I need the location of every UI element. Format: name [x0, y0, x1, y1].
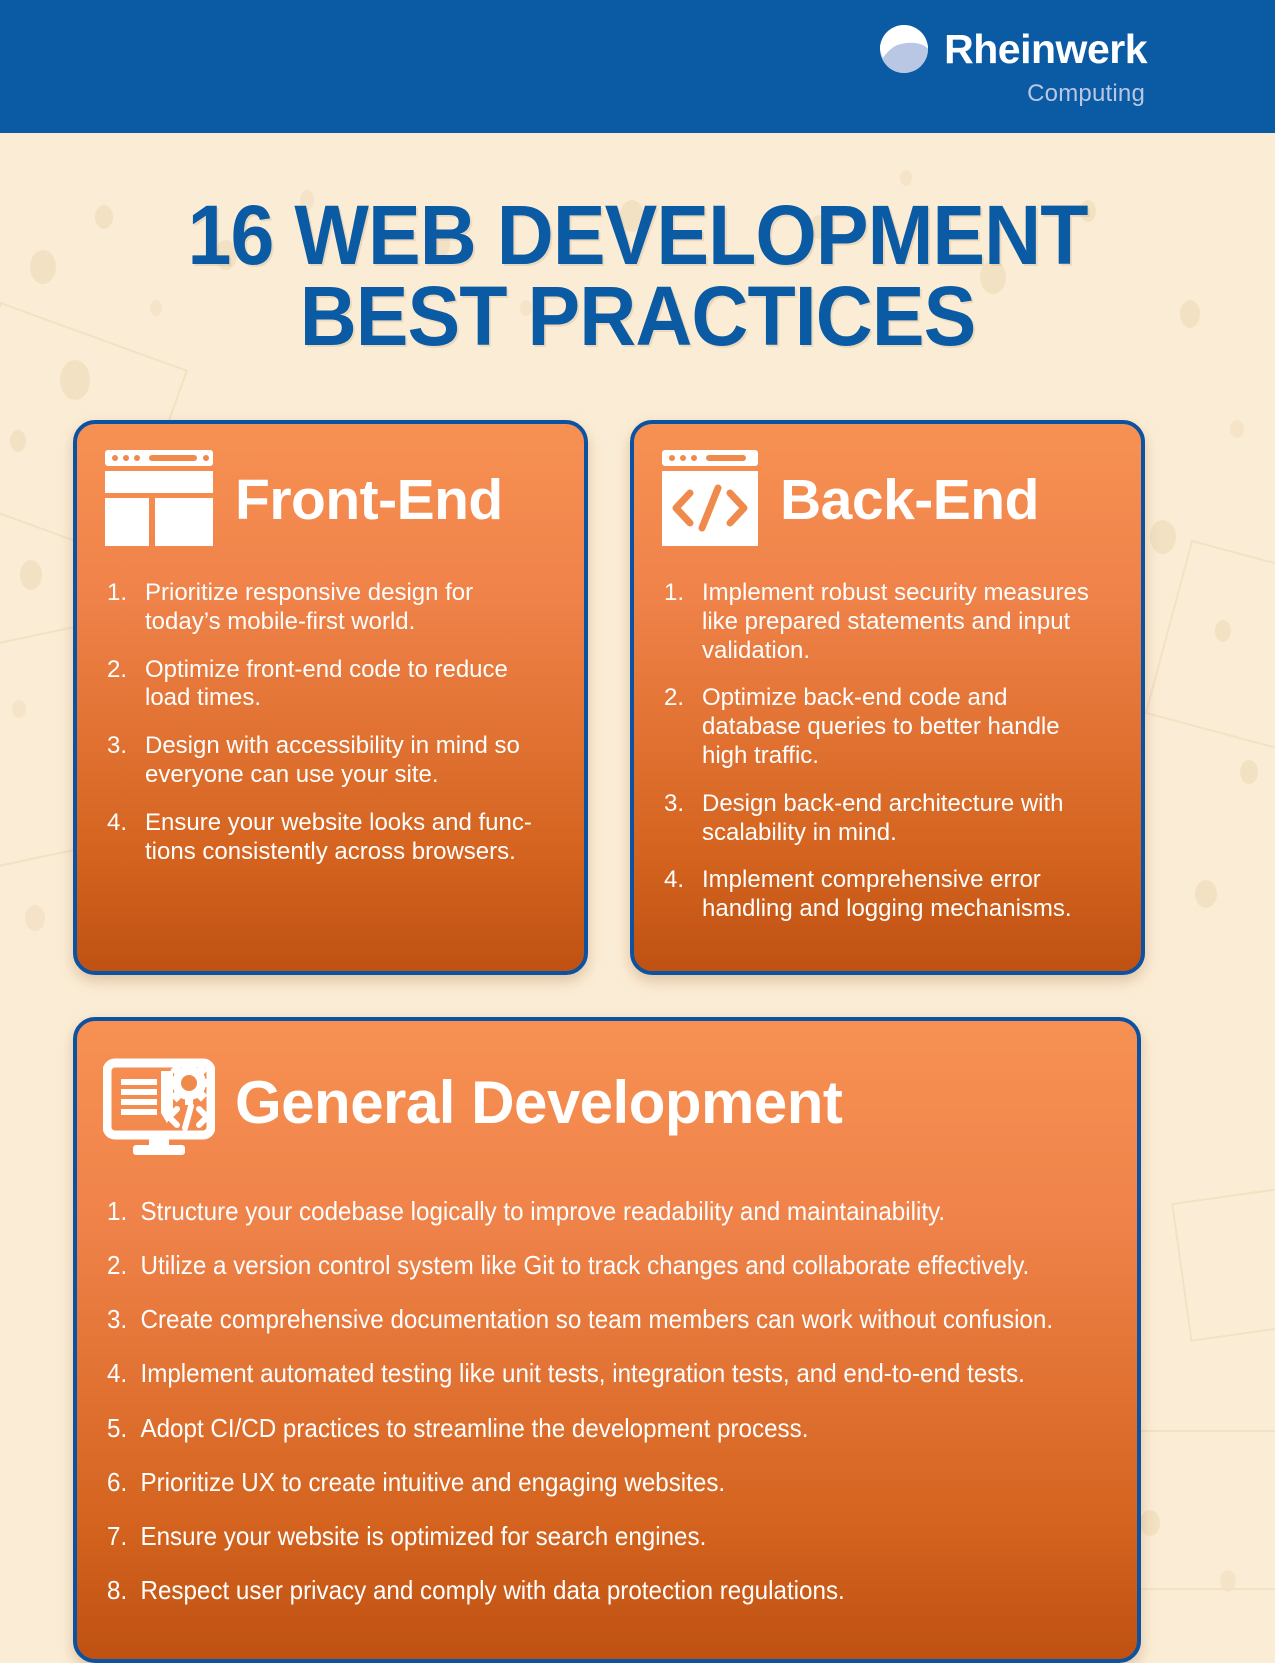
list-item: Utilize a version control system like Gi… [107, 1250, 1033, 1281]
page-header: Rheinwerk Computing [0, 0, 1275, 133]
list-item: Respect user privacy and comply with dat… [107, 1575, 1033, 1606]
card-general-development-title: General Development [235, 1073, 842, 1133]
list-item: Design back-end architecture with scalab… [662, 790, 1111, 848]
card-general-development-list: Structure your codebase logically to imp… [77, 1162, 1137, 1660]
card-back-end-list: Implement robust security measures like … [634, 553, 1141, 971]
list-item: Design with accessibility in mind so eve… [105, 732, 554, 790]
list-item: Implement robust security measures like … [662, 579, 1111, 665]
list-item: Ensure your website is optimized for sea… [107, 1521, 1033, 1552]
page-title-line1: 16 WEB DEVELOPMENT [187, 188, 1087, 282]
card-back-end-title: Back-End [780, 472, 1039, 529]
list-item: Adopt CI/CD practices to streamline the … [107, 1413, 1033, 1444]
card-front-end: Front-End Prioritize responsive design f… [73, 420, 588, 975]
list-item: Optimize back-end code and database quer… [662, 684, 1111, 770]
browser-layout-icon [103, 448, 215, 553]
cards-row: Front-End Prioritize responsive design f… [0, 420, 1275, 975]
card-back-end: Back-End Implement robust security measu… [630, 420, 1145, 975]
list-item: Structure your codebase logically to imp… [107, 1196, 1033, 1227]
card-back-end-header: Back-End [634, 424, 1141, 553]
list-item: Ensure your website looks and func-tions… [105, 809, 554, 867]
list-item: Prioritize responsive design for today’s… [105, 579, 554, 637]
card-general-development-header: General Development [77, 1021, 1137, 1162]
list-item: Implement automated testing like unit te… [107, 1358, 1033, 1389]
rheinwerk-wave-logo-icon [880, 25, 928, 73]
card-front-end-title: Front-End [235, 472, 503, 529]
monitor-gear-code-icon [103, 1045, 215, 1162]
list-item: Implement comprehensive error handling a… [662, 866, 1111, 924]
list-item: Prioritize UX to create intuitive and en… [107, 1467, 1033, 1498]
brand-logo: Rheinwerk Computing [880, 25, 1147, 108]
list-item: Optimize front-end code to reduce load t… [105, 656, 554, 714]
brand-subtitle: Computing [1027, 80, 1145, 108]
card-front-end-header: Front-End [77, 424, 584, 553]
brand-name: Rheinwerk [944, 29, 1147, 70]
card-general-development: General Development Structure your codeb… [73, 1017, 1141, 1663]
card-front-end-list: Prioritize responsive design for today’s… [77, 553, 584, 913]
page-title-line2: BEST PRACTICES [38, 276, 1237, 357]
browser-code-icon [660, 448, 760, 553]
list-item: Create comprehensive documentation so te… [107, 1304, 1033, 1335]
page-title: 16 WEB DEVELOPMENT BEST PRACTICES [38, 133, 1237, 358]
